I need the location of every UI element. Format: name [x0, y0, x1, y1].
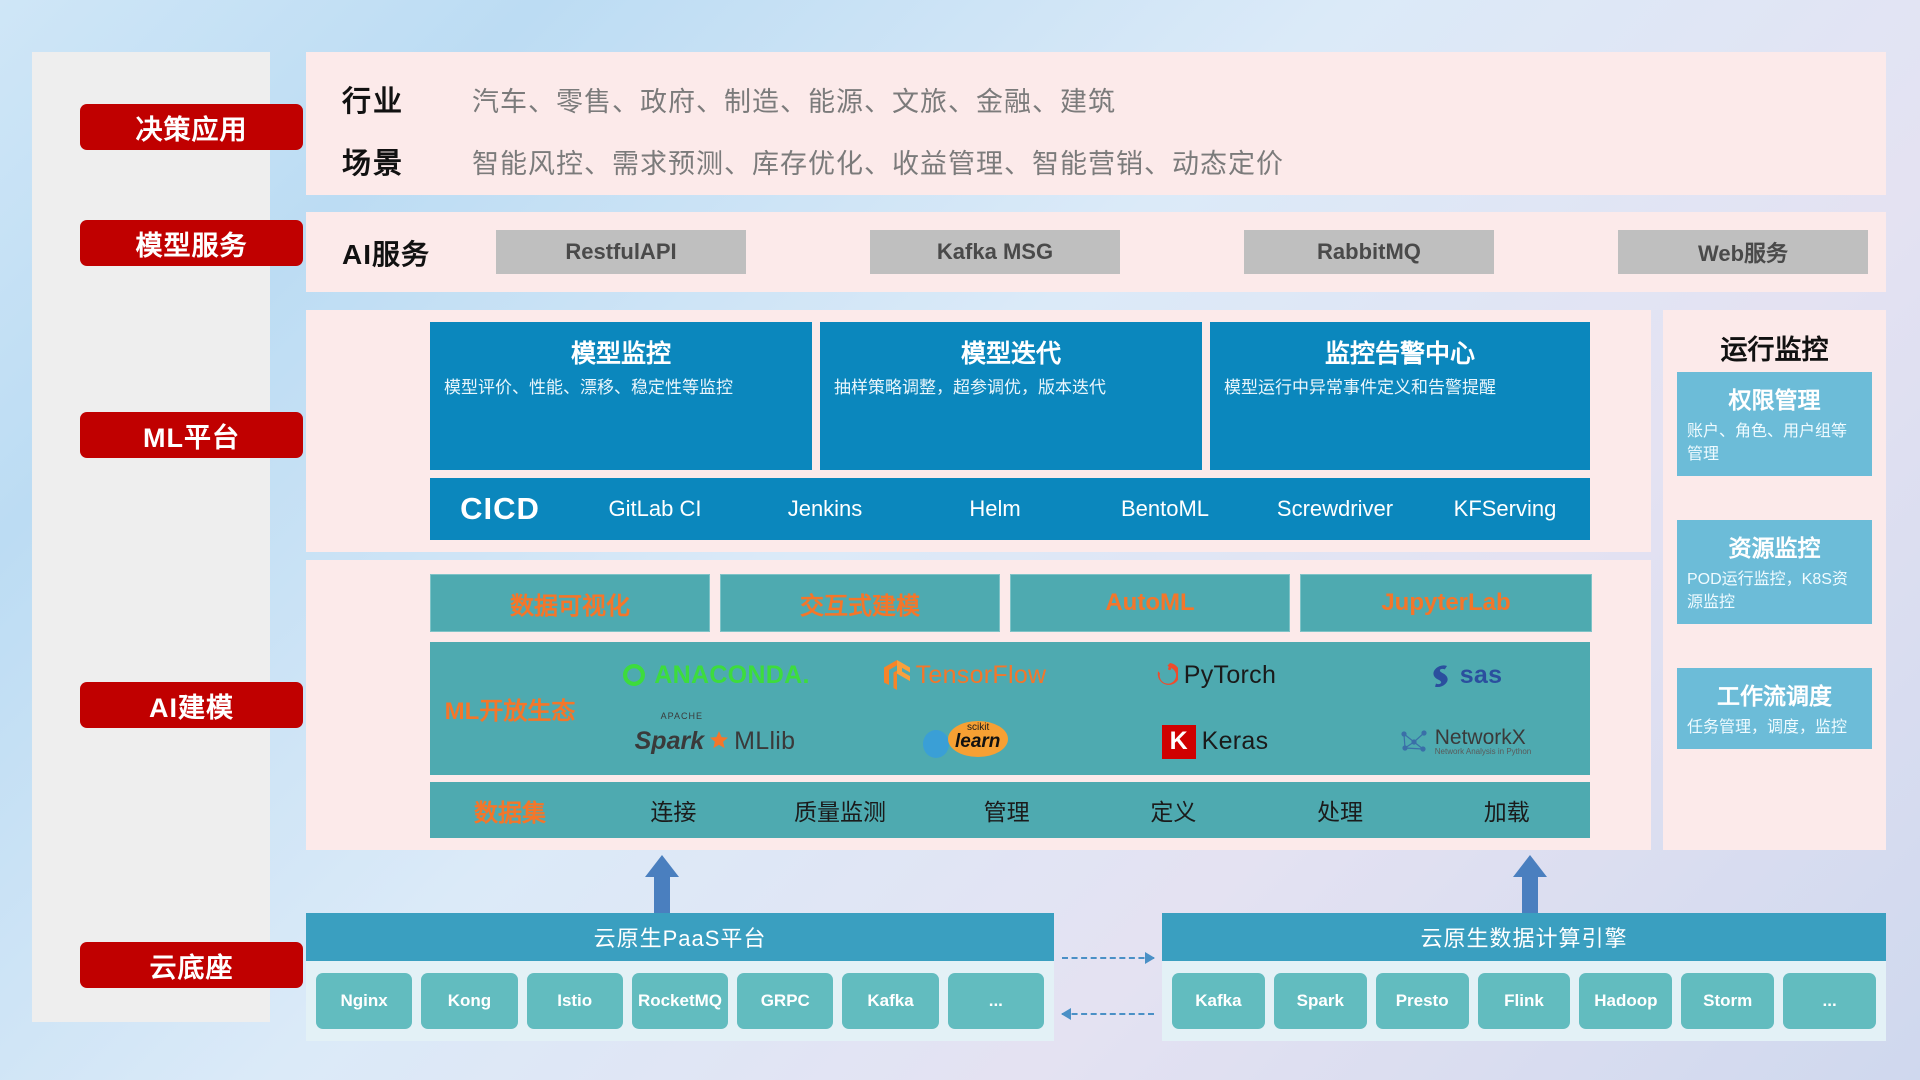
rail-chip-label: 云底座	[150, 946, 234, 985]
cloud-data-engine-title: 云原生数据计算引擎	[1162, 913, 1886, 961]
rail-chip-decision-app[interactable]: 决策应用	[80, 104, 303, 150]
card-title: 资源监控	[1677, 520, 1872, 568]
card-desc: 模型评价、性能、漂移、稳定性等监控	[430, 376, 812, 400]
cloud-chip-istio[interactable]: Istio	[527, 973, 623, 1029]
engine-chip-storm[interactable]: Storm	[1681, 973, 1774, 1029]
cicd-tool-bentoml[interactable]: BentoML	[1080, 497, 1250, 520]
mlops-card-model-iteration[interactable]: 模型迭代 抽样策略调整，超参调优，版本迭代	[820, 322, 1202, 470]
rail-chip-ml-platform[interactable]: ML平台	[80, 412, 303, 458]
industry-key: 行业	[342, 78, 472, 120]
pytorch-flame-icon	[1154, 661, 1178, 689]
networkx-subtitle: Network Analysis in Python	[1435, 748, 1532, 756]
dataset-item-quality[interactable]: 质量监测	[757, 793, 924, 827]
engine-chip-hadoop[interactable]: Hadoop	[1579, 973, 1672, 1029]
keras-logo-text: Keras	[1202, 727, 1269, 756]
card-title: 监控告警中心	[1210, 322, 1590, 376]
rail-chip-cloud-base[interactable]: 云底座	[80, 942, 303, 988]
chip-label: 数据可视化	[510, 586, 630, 621]
dataset-item-define[interactable]: 定义	[1090, 793, 1257, 827]
cloud-paas-title: 云原生PaaS平台	[306, 913, 1054, 961]
card-desc: 抽样策略调整，超参调优，版本迭代	[820, 376, 1202, 400]
pytorch-logo-text: PyTorch	[1184, 661, 1276, 690]
dashed-arrow-right-icon	[1062, 957, 1154, 959]
cicd-tool-screwdriver[interactable]: Screwdriver	[1250, 497, 1420, 520]
ai-service-chip-restfulapi[interactable]: RestfulAPI	[496, 230, 746, 274]
rail-chip-model-service[interactable]: 模型服务	[80, 220, 303, 266]
rail-chip-ai-modeling[interactable]: AI建模	[80, 682, 303, 728]
card-desc: 账户、角色、用户组等管理	[1677, 420, 1872, 476]
dataset-row: 数据集 连接 质量监测 管理 定义 处理 加载	[430, 782, 1590, 838]
industry-value: 汽车、零售、政府、制造、能源、文旅、金融、建筑	[472, 80, 1116, 119]
lab-chip-automl[interactable]: AutoML	[1010, 574, 1290, 632]
sas-logo-text: sas	[1460, 661, 1503, 690]
ml-lab-band: 神州数码 ML LAB 数据可视化 交互式建模 AutoML JupyterLa…	[306, 560, 1651, 850]
eco-label: ML开放生态	[430, 691, 590, 726]
ai-service-title: AI服务	[342, 233, 430, 273]
scenario-row: 场景 智能风控、需求预测、库存优化、收益管理、智能营销、动态定价	[342, 140, 1284, 182]
lab-chip-jupyterlab[interactable]: JupyterLab	[1300, 574, 1592, 632]
cicd-tool-kfserving[interactable]: KFServing	[1420, 497, 1590, 520]
spark-apache-text: APACHE	[661, 711, 703, 721]
learn-text: learn	[955, 731, 1000, 753]
ai-service-band: AI服务 RestfulAPI Kafka MSG RabbitMQ Web服务	[306, 212, 1886, 292]
mlops-band: MLOps 模型监控 模型评价、性能、漂移、稳定性等监控 模型迭代 抽样策略调整…	[306, 310, 1651, 552]
cloud-paas-chip-list: Nginx Kong Istio RocketMQ GRPC Kafka ...	[306, 961, 1054, 1041]
cicd-label: CICD	[430, 491, 570, 527]
tensorflow-logo-text: TensorFlow	[916, 661, 1047, 690]
lab-chip-data-visualization[interactable]: 数据可视化	[430, 574, 710, 632]
card-title: 模型监控	[430, 322, 812, 376]
dataset-item-manage[interactable]: 管理	[923, 793, 1090, 827]
chip-label: 交互式建模	[800, 586, 920, 621]
data-engine-up-arrow-icon	[1513, 855, 1547, 913]
cicd-tool-jenkins[interactable]: Jenkins	[740, 497, 910, 520]
scenario-value: 智能风控、需求预测、库存优化、收益管理、智能营销、动态定价	[472, 142, 1284, 181]
scenario-key: 场景	[342, 140, 472, 182]
engine-chip-flink[interactable]: Flink	[1478, 973, 1571, 1029]
anaconda-logo: ANACONDA.	[620, 661, 809, 690]
engine-chip-more[interactable]: ...	[1783, 973, 1876, 1029]
chip-label: RabbitMQ	[1317, 239, 1421, 265]
card-desc: POD运行监控，K8S资源监控	[1677, 568, 1872, 624]
industry-row: 行业 汽车、零售、政府、制造、能源、文旅、金融、建筑	[342, 78, 1116, 120]
monitor-card-workflow[interactable]: 工作流调度 任务管理，调度，监控	[1677, 668, 1872, 749]
chip-label: RestfulAPI	[565, 239, 676, 265]
eco-logo-grid: ANACONDA. TensorFlow PyTorch	[590, 642, 1590, 775]
rail-chip-label: 模型服务	[136, 224, 248, 263]
chip-label: AutoML	[1105, 589, 1194, 617]
monitor-card-resource[interactable]: 资源监控 POD运行监控，K8S资源监控	[1677, 520, 1872, 624]
card-title: 权限管理	[1677, 372, 1872, 420]
mlops-card-model-monitoring[interactable]: 模型监控 模型评价、性能、漂移、稳定性等监控	[430, 322, 812, 470]
cloud-chip-grpc[interactable]: GRPC	[737, 973, 833, 1029]
cloud-chip-nginx[interactable]: Nginx	[316, 973, 412, 1029]
ai-service-chip-kafka-msg[interactable]: Kafka MSG	[870, 230, 1120, 274]
cloud-data-engine-panel: 云原生数据计算引擎 Kafka Spark Presto Flink Hadoo…	[1162, 913, 1886, 1041]
ai-service-chip-rabbitmq[interactable]: RabbitMQ	[1244, 230, 1494, 274]
scikit-learn-logo: scikit learn	[921, 720, 1009, 763]
networkx-logo-text: NetworkX	[1435, 727, 1532, 748]
chip-label: Web服务	[1698, 236, 1788, 268]
runtime-monitoring-title: 运行监控	[1663, 328, 1886, 367]
spark-mllib-logo: APACHE Spark MLlib	[635, 727, 796, 756]
cloud-data-engine-chip-list: Kafka Spark Presto Flink Hadoop Storm ..…	[1162, 961, 1886, 1041]
card-desc: 任务管理，调度，监控	[1677, 716, 1872, 749]
sas-mark-icon	[1428, 662, 1454, 688]
ai-service-chip-web[interactable]: Web服务	[1618, 230, 1868, 274]
monitor-card-permission[interactable]: 权限管理 账户、角色、用户组等管理	[1677, 372, 1872, 476]
cloud-chip-kong[interactable]: Kong	[421, 973, 517, 1029]
pytorch-logo: PyTorch	[1154, 661, 1276, 690]
architecture-diagram: 决策应用 模型服务 ML平台 AI建模 云底座 行业 汽车、零售、政府、制造、能…	[0, 0, 1920, 1080]
cloud-chip-rocketmq[interactable]: RocketMQ	[632, 973, 728, 1029]
keras-logo: K Keras	[1162, 725, 1269, 759]
cloud-chip-kafka[interactable]: Kafka	[842, 973, 938, 1029]
rail-chip-label: AI建模	[149, 686, 234, 725]
networkx-logo: NetworkX Network Analysis in Python	[1399, 727, 1532, 756]
anaconda-logo-text: ANACONDA.	[654, 661, 809, 690]
mlops-card-alert-center[interactable]: 监控告警中心 模型运行中异常事件定义和告警提醒	[1210, 322, 1590, 470]
keras-mark-icon: K	[1162, 725, 1196, 759]
spark-logo-text: Spark	[635, 727, 704, 756]
runtime-monitoring-band: 运行监控 权限管理 账户、角色、用户组等管理 资源监控 POD运行监控，K8S资…	[1663, 310, 1886, 850]
networkx-graph-icon	[1399, 728, 1429, 756]
rail-chip-label: ML平台	[143, 416, 240, 455]
cicd-tool-helm[interactable]: Helm	[910, 497, 1080, 520]
ml-open-ecosystem-row: ML开放生态 ANACONDA. TensorFlow	[430, 642, 1590, 775]
card-title: 模型迭代	[820, 322, 1202, 376]
rail-chip-label: 决策应用	[136, 108, 248, 147]
dataset-item-process[interactable]: 处理	[1257, 793, 1424, 827]
chip-label: JupyterLab	[1381, 589, 1510, 617]
spark-star-icon	[708, 730, 730, 752]
mllib-logo-text: MLlib	[734, 727, 795, 756]
anaconda-mark-icon	[620, 661, 648, 689]
engine-chip-presto[interactable]: Presto	[1376, 973, 1469, 1029]
tensorflow-mark-icon	[884, 660, 910, 690]
left-label-rail: 决策应用 模型服务 ML平台 AI建模 云底座	[32, 52, 270, 1022]
dataset-label: 数据集	[430, 793, 590, 828]
tensorflow-logo: TensorFlow	[884, 660, 1047, 690]
engine-chip-kafka[interactable]: Kafka	[1172, 973, 1265, 1029]
chip-label: Kafka MSG	[937, 239, 1053, 265]
lab-chip-interactive-modeling[interactable]: 交互式建模	[720, 574, 1000, 632]
cloud-paas-panel: 云原生PaaS平台 Nginx Kong Istio RocketMQ GRPC…	[306, 913, 1054, 1041]
card-title: 工作流调度	[1677, 668, 1872, 716]
dataset-item-connect[interactable]: 连接	[590, 793, 757, 827]
industry-scenario-band: 行业 汽车、零售、政府、制造、能源、文旅、金融、建筑 场景 智能风控、需求预测、…	[306, 52, 1886, 195]
sas-logo: sas	[1428, 661, 1503, 690]
cicd-tool-gitlab-ci[interactable]: GitLab CI	[570, 497, 740, 520]
engine-chip-spark[interactable]: Spark	[1274, 973, 1367, 1029]
cicd-row: CICD GitLab CI Jenkins Helm BentoML Scre…	[430, 478, 1590, 540]
dataset-item-load[interactable]: 加载	[1423, 793, 1590, 827]
paas-up-arrow-icon	[645, 855, 679, 913]
cloud-chip-more[interactable]: ...	[948, 973, 1044, 1029]
card-desc: 模型运行中异常事件定义和告警提醒	[1210, 376, 1590, 400]
dashed-arrow-left-icon	[1062, 1013, 1154, 1015]
